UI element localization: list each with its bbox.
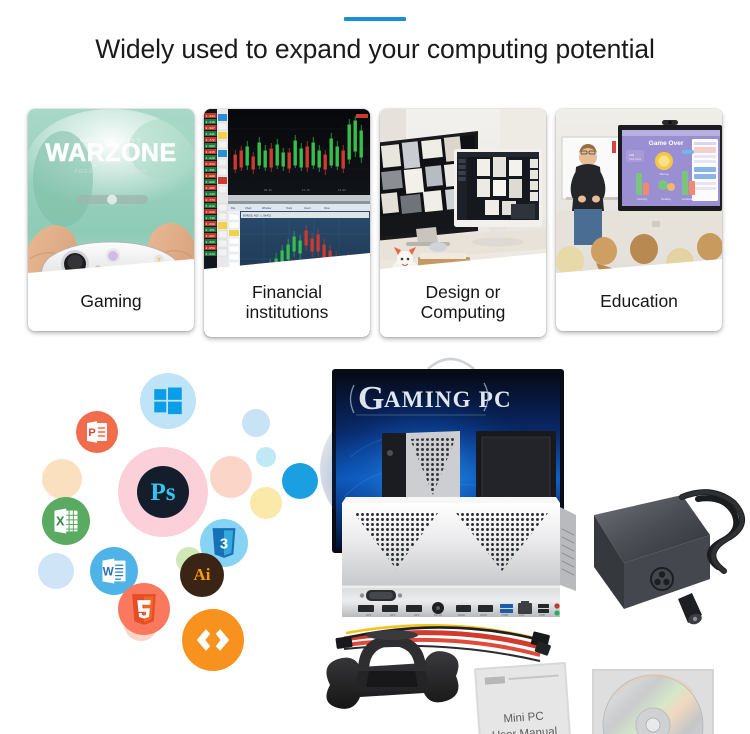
svg-text:Tools: Tools bbox=[286, 206, 293, 210]
page-title: Widely used to expand your computing pot… bbox=[0, 34, 750, 65]
svg-text:4.220: 4.220 bbox=[206, 156, 215, 160]
svg-text:USB: USB bbox=[539, 613, 545, 617]
svg-text:Reading: Reading bbox=[661, 197, 671, 201]
svg-text:CALL OF DUTY: CALL OF DUTY bbox=[80, 138, 142, 144]
card-label-text: Education bbox=[556, 291, 722, 312]
decor-bubble-lightblue bbox=[38, 553, 74, 589]
svg-text:09:30: 09:30 bbox=[264, 189, 272, 192]
excel-icon[interactable]: X bbox=[42, 497, 90, 545]
svg-text:LAN: LAN bbox=[519, 613, 524, 617]
svg-text:3.288: 3.288 bbox=[206, 222, 215, 226]
decor-bubble-cyan bbox=[256, 447, 276, 467]
svg-text:128: 128 bbox=[629, 153, 634, 157]
windows-logo-icon[interactable] bbox=[140, 373, 196, 429]
use-case-card-financial[interactable]: 1.234 2.118 0.987 3.441 1.772 2.903 1.01… bbox=[204, 109, 370, 337]
windows-glyph-icon bbox=[153, 386, 183, 416]
power-adapter-graphic bbox=[594, 492, 742, 626]
svg-text:0.987: 0.987 bbox=[206, 126, 215, 130]
use-case-cards-row: WARZONE CALL OF DUTY FREE TO PLAY NOW bbox=[0, 109, 750, 344]
svg-text:DP2: DP2 bbox=[390, 613, 396, 617]
card-label-text: Design or Computing bbox=[380, 282, 546, 323]
svg-text:3.441: 3.441 bbox=[206, 132, 215, 136]
svg-text:View: View bbox=[324, 206, 330, 210]
svg-text:3: 3 bbox=[220, 537, 228, 553]
svg-text:HDMI: HDMI bbox=[480, 613, 487, 617]
svg-text:Strong: Strong bbox=[660, 172, 669, 176]
svg-text:2.118: 2.118 bbox=[206, 120, 215, 124]
photoshop-label: Ps bbox=[151, 480, 176, 505]
svg-text:HDMI: HDMI bbox=[458, 613, 465, 617]
use-case-card-education[interactable]: Game Over 128 Total points Stron bbox=[556, 109, 722, 331]
svg-text:USB3: USB3 bbox=[501, 613, 509, 617]
word-glyph-icon: W bbox=[99, 556, 129, 586]
excel-glyph-icon: X bbox=[51, 506, 81, 536]
illustrator-label: Ai bbox=[194, 565, 211, 585]
svg-text:0.654: 0.654 bbox=[206, 162, 215, 166]
svg-text:1.326: 1.326 bbox=[206, 240, 215, 244]
svg-text:Window: Window bbox=[262, 206, 271, 210]
svg-text:0.451: 0.451 bbox=[206, 228, 215, 232]
svg-text:2.331: 2.331 bbox=[206, 168, 215, 172]
svg-text:Vocabulary: Vocabulary bbox=[682, 197, 696, 201]
svg-text:2.058: 2.058 bbox=[206, 246, 215, 250]
svg-text:Game Over: Game Over bbox=[649, 140, 684, 147]
card-label-text: Financial institutions bbox=[204, 282, 370, 323]
svg-text:Chart: Chart bbox=[245, 206, 252, 210]
svg-text:0.773: 0.773 bbox=[206, 198, 215, 202]
svg-text:14:00: 14:00 bbox=[338, 189, 346, 192]
svg-text:FREE TO PLAY NOW: FREE TO PLAY NOW bbox=[75, 169, 148, 175]
illustrator-icon[interactable]: Ai bbox=[180, 553, 224, 597]
svg-text:DP1: DP1 bbox=[366, 613, 372, 617]
svg-text:2.740: 2.740 bbox=[206, 216, 215, 220]
svg-text:3.613: 3.613 bbox=[206, 252, 215, 256]
svg-text:1.880: 1.880 bbox=[206, 174, 215, 178]
software-icon-cluster: P Ps X bbox=[28, 371, 328, 681]
photoshop-badge: Ps bbox=[137, 466, 189, 518]
svg-text:1.772: 1.772 bbox=[206, 138, 215, 142]
svg-text:2.903: 2.903 bbox=[206, 144, 215, 148]
css3-glyph-icon: 3 bbox=[209, 527, 239, 559]
html5-glyph-icon bbox=[129, 593, 159, 626]
svg-text:Total points: Total points bbox=[629, 158, 642, 161]
svg-text:1.143: 1.143 bbox=[206, 192, 215, 196]
powerpoint-glyph-icon: P bbox=[84, 419, 110, 445]
svg-text:4.907: 4.907 bbox=[206, 234, 215, 238]
powerpoint-icon[interactable]: P bbox=[76, 411, 118, 453]
svg-text:1.234: 1.234 bbox=[206, 114, 215, 118]
decor-bubble-yellow bbox=[250, 487, 282, 519]
use-case-card-gaming[interactable]: WARZONE CALL OF DUTY FREE TO PLAY NOW bbox=[28, 109, 194, 331]
svg-text:1.669: 1.669 bbox=[206, 210, 215, 214]
html5-icon[interactable] bbox=[118, 583, 170, 635]
svg-text:X: X bbox=[56, 515, 65, 529]
svg-text:Insert: Insert bbox=[304, 206, 311, 210]
svg-text:11:15: 11:15 bbox=[302, 189, 310, 192]
decor-bubble-peach bbox=[42, 459, 82, 499]
mini-pc-unit-graphic: DP1DP2DP3 DC-INHDMIHDMI USB3LANUSB bbox=[342, 497, 576, 617]
user-manual-graphic: Mini PC User Manual bbox=[474, 662, 574, 734]
svg-text:1.015: 1.015 bbox=[206, 150, 215, 154]
svg-text:EURUSD,M15 1.08432: EURUSD,M15 1.08432 bbox=[243, 215, 271, 218]
code-brackets-icon[interactable] bbox=[182, 609, 244, 671]
svg-text:P: P bbox=[88, 427, 95, 439]
svg-text:AMING PC: AMING PC bbox=[384, 387, 512, 412]
header-accent-bar bbox=[344, 17, 406, 21]
code-brackets-glyph-icon bbox=[195, 626, 231, 654]
svg-text:DC-IN: DC-IN bbox=[434, 613, 442, 617]
photoshop-icon[interactable]: Ps bbox=[118, 447, 208, 537]
card-label-text: Gaming bbox=[28, 291, 194, 312]
svg-text:2.495: 2.495 bbox=[206, 186, 215, 190]
decor-bubble-skyblue bbox=[242, 409, 270, 437]
use-case-card-design[interactable]: Design or Computing bbox=[380, 109, 546, 337]
svg-text:DP3: DP3 bbox=[414, 613, 420, 617]
svg-text:3.006: 3.006 bbox=[206, 180, 215, 184]
svg-text:5.012: 5.012 bbox=[206, 204, 215, 208]
decor-bubble-pink bbox=[210, 456, 252, 498]
driver-disc-graphic bbox=[592, 669, 714, 734]
svg-text:Listening: Listening bbox=[637, 197, 648, 201]
mini-pc-product-photo: G AMING PC bbox=[310, 347, 750, 734]
svg-text:G: G bbox=[358, 380, 384, 417]
svg-text:W: W bbox=[103, 567, 114, 579]
svg-text:File: File bbox=[231, 206, 236, 210]
product-showcase-section: P Ps X bbox=[0, 347, 750, 734]
